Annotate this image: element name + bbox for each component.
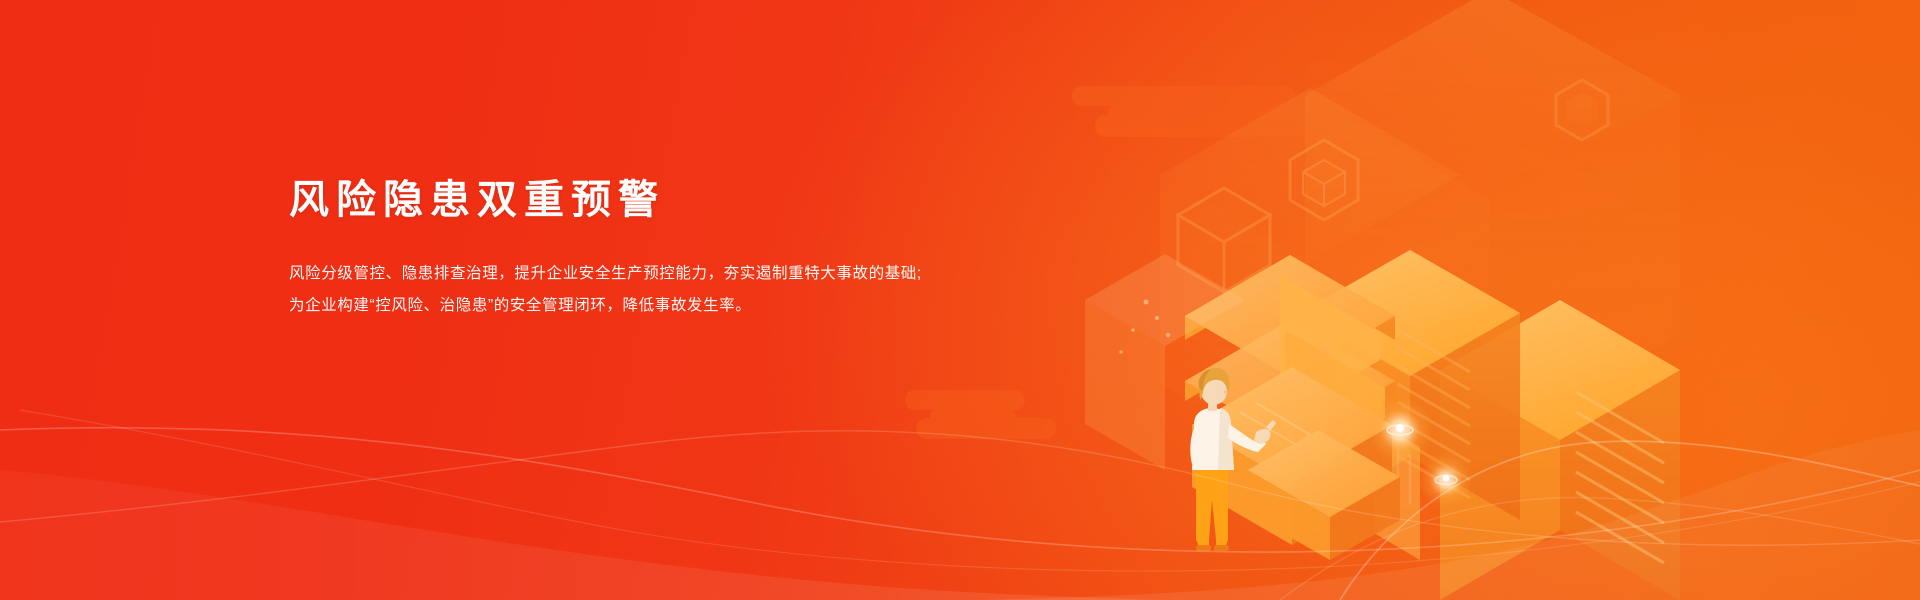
hexagon-outline-icon (1290, 140, 1358, 220)
hexagon-outline-icon-small (1556, 80, 1608, 140)
banner-subtitle-line-1: 风险分级管控、隐患排查治理，提升企业安全生产预控能力，夯实遏制重特大事故的基础; (289, 258, 989, 290)
banner-headline: 风险隐患双重预警 (289, 176, 989, 224)
hero-banner: 风险隐患双重预警 风险分级管控、隐患排查治理，提升企业安全生产预控能力，夯实遏制… (0, 0, 1920, 600)
banner-subtitle-line-2: 为企业构建“控风险、治隐患”的安全管理闭环，降低事故发生率。 (289, 290, 989, 322)
cube-outline-icon (1178, 188, 1270, 292)
banner-copy: 风险隐患双重预警 风险分级管控、隐患排查治理，提升企业安全生产预控能力，夯实遏制… (289, 176, 989, 322)
